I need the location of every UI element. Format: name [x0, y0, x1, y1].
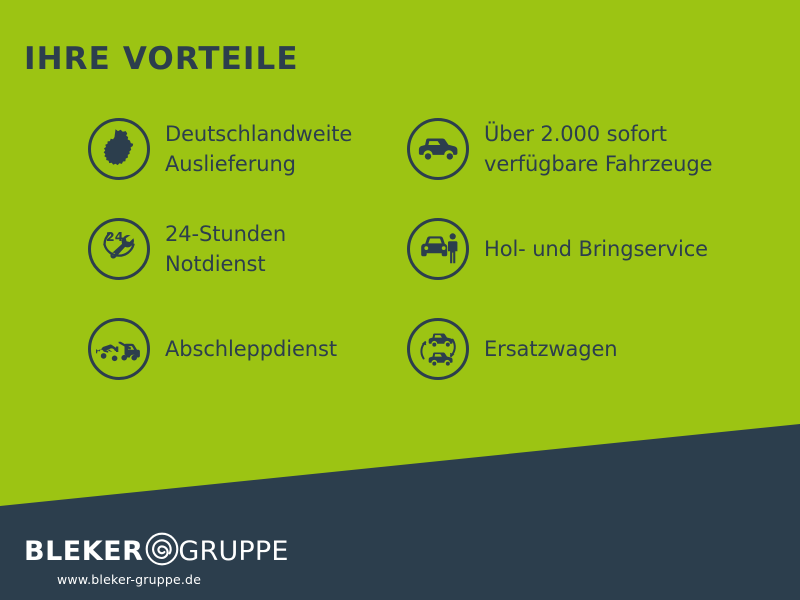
benefit-item-ueber-2000-sofort-verfuegbare-fahrzeuge[interactable]: Über 2.000 sofort verfügbare Fahrzeuge	[407, 118, 712, 180]
footer-logo[interactable]: BLEKER GRUPPE www.bleker-gruppe.de	[24, 534, 289, 587]
benefit-row: Abschleppdienst	[0, 318, 800, 418]
car-exchange-icon	[407, 318, 469, 380]
car-with-person-icon	[407, 218, 469, 280]
car-icon	[407, 118, 469, 180]
benefit-label: 24-Stunden Notdienst	[165, 219, 286, 279]
benefit-item-abschleppdienst[interactable]: Abschleppdienst	[88, 318, 337, 380]
spiral-circle-icon	[145, 532, 179, 570]
benefit-label: Abschleppdienst	[165, 334, 337, 364]
logo-wordmark: BLEKER GRUPPE	[24, 534, 289, 568]
benefit-label: Über 2.000 sofort verfügbare Fahrzeuge	[484, 119, 712, 179]
page-title: IHRE VORTEILE	[24, 44, 299, 75]
benefit-item-24-stunden-notdienst[interactable]: 24 24-Stunden Notdienst	[88, 218, 286, 280]
benefit-item-deutschlandweite-auslieferung[interactable]: Deutschlandweite Auslieferung	[88, 118, 352, 180]
tow-truck-icon	[88, 318, 150, 380]
germany-map-icon	[88, 118, 150, 180]
benefit-item-ersatzwagen[interactable]: Ersatzwagen	[407, 318, 617, 380]
logo-gruppe-text: GRUPPE	[178, 538, 288, 565]
svg-text:24: 24	[106, 229, 124, 244]
benefit-row: 24 24-Stunden Notdienst Hol- un	[0, 218, 800, 318]
clock-24-wrench-icon: 24	[88, 218, 150, 280]
benefit-row: Deutschlandweite Auslieferung Über 2.000…	[0, 118, 800, 218]
benefit-label: Deutschlandweite Auslieferung	[165, 119, 352, 179]
logo-url-text[interactable]: www.bleker-gruppe.de	[57, 572, 201, 587]
benefit-label: Ersatzwagen	[484, 334, 617, 364]
benefit-item-hol-und-bringservice[interactable]: Hol- und Bringservice	[407, 218, 708, 280]
benefit-label: Hol- und Bringservice	[484, 234, 708, 264]
slide-canvas: IHRE VORTEILE Deutschlandweite Ausliefer…	[0, 0, 800, 600]
logo-bleker-text: BLEKER	[24, 538, 143, 565]
benefits-grid: Deutschlandweite Auslieferung Über 2.000…	[0, 118, 800, 418]
